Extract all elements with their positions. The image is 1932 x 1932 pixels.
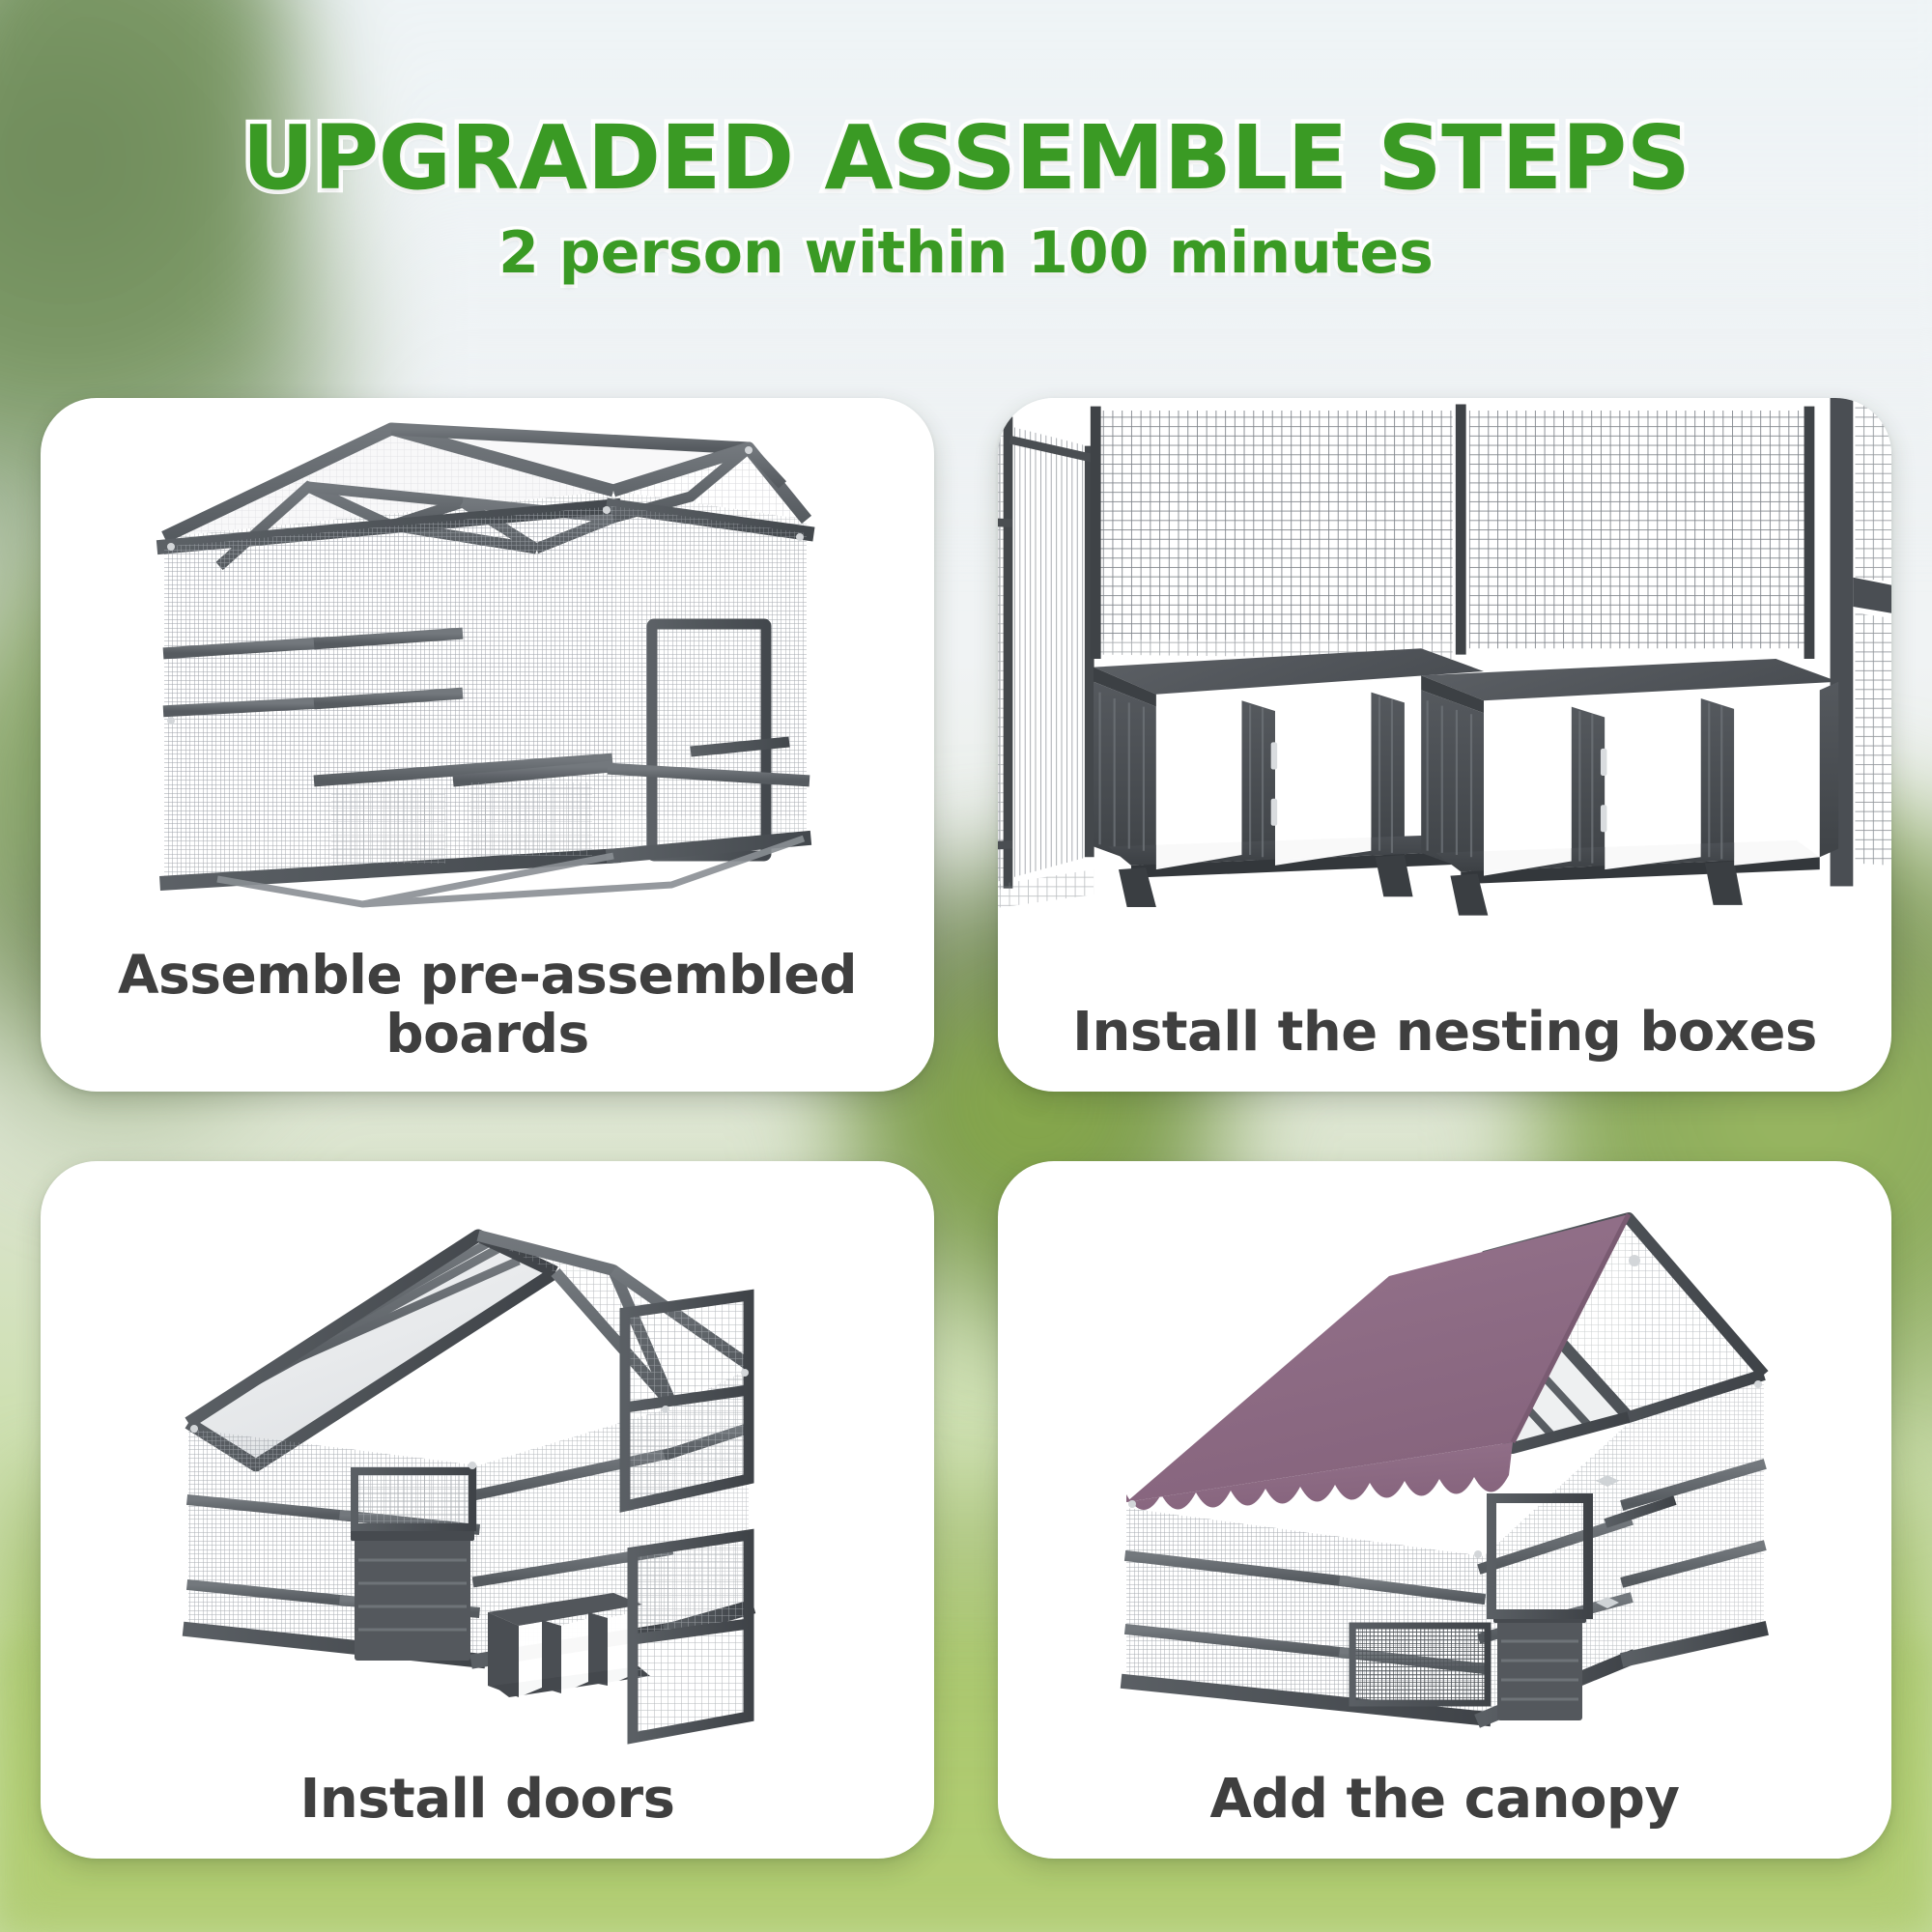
step-card-2[interactable]: Install the nesting boxes xyxy=(998,398,1891,1092)
steps-grid: Assemble pre-assembled boards xyxy=(41,398,1891,1859)
step-card-3[interactable]: Install doors xyxy=(41,1161,934,1859)
step-2-illustration xyxy=(998,398,1891,1003)
step-3-caption: Install doors xyxy=(41,1770,934,1859)
step-card-4[interactable]: Add the canopy xyxy=(998,1161,1891,1859)
page-subtitle: 2 person within 100 minutes xyxy=(0,203,1932,282)
infographic-page: UPGRADED ASSEMBLE STEPS 2 person within … xyxy=(0,0,1932,1932)
step-card-1[interactable]: Assemble pre-assembled boards xyxy=(41,398,934,1092)
coop-with-purple-canopy-icon xyxy=(1030,1176,1861,1755)
wire-mesh-coop-frame-icon xyxy=(72,402,903,943)
step-3-illustration xyxy=(41,1161,934,1770)
step-4-illustration xyxy=(998,1161,1891,1770)
step-2-caption: Install the nesting boxes xyxy=(998,1003,1891,1092)
step-1-caption: Assemble pre-assembled boards xyxy=(41,946,934,1092)
nesting-boxes-closeup-icon xyxy=(998,398,1891,1003)
header: UPGRADED ASSEMBLE STEPS 2 person within … xyxy=(0,0,1932,282)
page-title: UPGRADED ASSEMBLE STEPS xyxy=(0,0,1932,203)
coop-with-open-doors-icon xyxy=(72,1176,903,1755)
step-1-illustration xyxy=(41,398,934,946)
step-4-caption: Add the canopy xyxy=(998,1770,1891,1859)
